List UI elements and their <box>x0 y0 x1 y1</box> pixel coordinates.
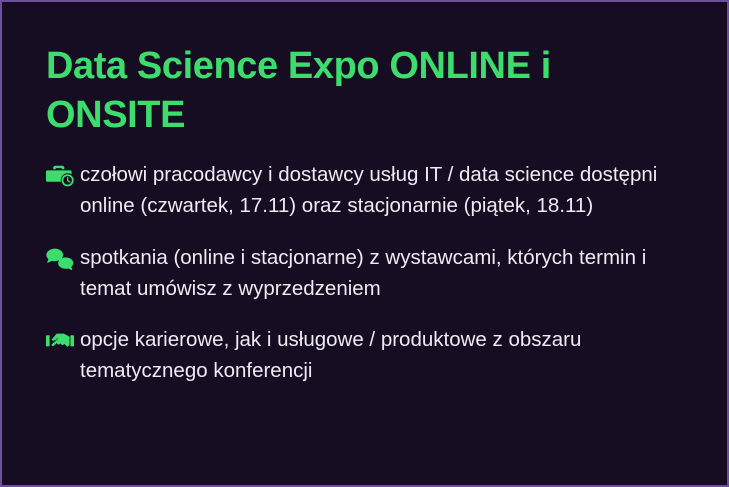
speech-bubbles-icon <box>46 246 80 272</box>
presentation-slide: Data Science Expo ONLINE i ONSITE czołow… <box>0 0 729 487</box>
page-title: Data Science Expo ONLINE i ONSITE <box>46 42 646 139</box>
list-item: opcje karierowe, jak i usługowe / produk… <box>46 324 703 386</box>
slide-content: Data Science Expo ONLINE i ONSITE czołow… <box>46 42 703 465</box>
list-item: spotkania (online i stacjonarne) z wysta… <box>46 242 703 304</box>
handshake-icon <box>46 328 80 354</box>
list-item: czołowi pracodawcy i dostawcy usług IT /… <box>46 159 703 221</box>
list-item-label: czołowi pracodawcy i dostawcy usług IT /… <box>80 159 703 221</box>
bullet-list: czołowi pracodawcy i dostawcy usług IT /… <box>46 159 703 386</box>
briefcase-clock-icon <box>46 163 80 189</box>
list-item-label: spotkania (online i stacjonarne) z wysta… <box>80 242 703 304</box>
list-item-label: opcje karierowe, jak i usługowe / produk… <box>80 324 625 386</box>
